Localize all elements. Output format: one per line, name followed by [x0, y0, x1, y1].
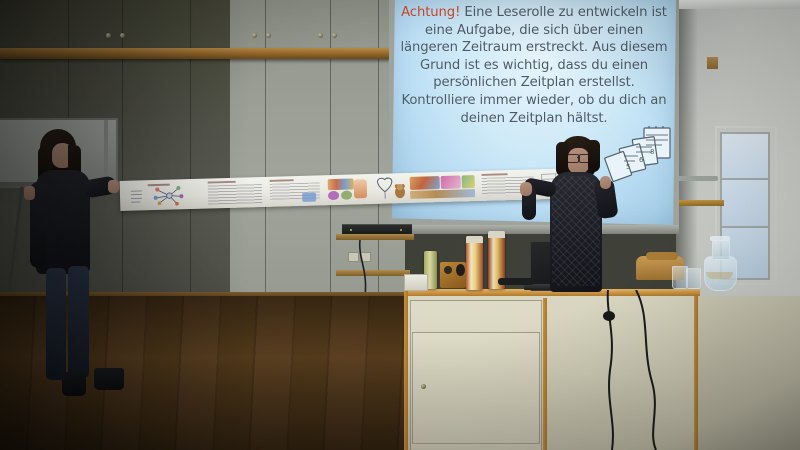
decorative-letter [456, 264, 465, 276]
slide-warning-word: Achtung! [401, 5, 460, 20]
scroll-section-text [268, 178, 323, 203]
canister-lid [466, 236, 483, 243]
paper-sheet[interactable] [404, 274, 428, 291]
scroll-section-text [206, 180, 265, 206]
cabinet-knob[interactable] [318, 33, 323, 38]
desk-edge [543, 298, 547, 450]
svg-text:6: 6 [639, 156, 644, 164]
cabinet-door-seam [330, 0, 331, 300]
glasses-bridge [577, 157, 580, 158]
carafe-water [706, 272, 733, 279]
cabinet-knob[interactable] [266, 33, 271, 38]
right-hand [108, 180, 119, 193]
wall-wood-patch [707, 57, 718, 69]
cabinet-knob[interactable] [120, 33, 125, 38]
canister-lid [488, 231, 505, 238]
scroll-section-diagram [124, 182, 203, 208]
power-led-icon [350, 229, 352, 231]
hair-strand [588, 140, 600, 172]
cabinet-door-seam [122, 0, 123, 300]
desk-side-panel [698, 296, 800, 450]
cabinet-knob[interactable] [252, 33, 257, 38]
svg-text:8: 8 [650, 148, 654, 156]
cabinet-knob[interactable] [106, 33, 111, 38]
left-leg [46, 268, 66, 380]
ceiling-edge [676, 0, 800, 9]
right-leg [68, 266, 89, 378]
snack-canister[interactable] [466, 236, 483, 290]
cable [356, 240, 382, 296]
slide-text: Achtung! Eine Leserolle zu entwickeln is… [396, 4, 672, 127]
glasses-lens [567, 154, 579, 163]
slide-body-text: Eine Leserolle zu entwickeln ist eine Au… [400, 5, 667, 126]
sweater-pattern [552, 176, 600, 286]
desk-cables [590, 290, 700, 450]
remote-control[interactable] [498, 278, 534, 285]
projection-screen-bottom-bar [389, 225, 679, 234]
desk-knob[interactable] [421, 384, 426, 389]
desk-drawer[interactable] [412, 332, 540, 444]
chair-armrest [646, 252, 678, 260]
wall-shelf [676, 200, 724, 206]
cabinet-door-seam [265, 0, 266, 300]
cabinet-wood-trim [0, 48, 390, 59]
scroll-section-stickers [326, 177, 371, 202]
decorative-dot [444, 266, 452, 274]
wall-bracket [676, 176, 718, 181]
shoe [94, 368, 124, 390]
classroom-photo: Achtung! Eine Leserolle zu entwickeln is… [0, 0, 800, 450]
left-hand [520, 182, 532, 196]
cabinet-knob[interactable] [332, 33, 337, 38]
hair-strand [556, 142, 568, 176]
left-hand [24, 186, 35, 200]
cabinet-door-seam [190, 0, 191, 300]
scroll-section-picture [410, 174, 477, 200]
drinking-glass[interactable] [686, 268, 701, 289]
right-hand [600, 176, 611, 189]
scroll-section-illustration [372, 176, 411, 201]
carafe-neck [712, 240, 730, 260]
desk-edge [404, 289, 408, 450]
shoe [62, 372, 86, 396]
carafe-lid [710, 236, 730, 241]
status-led-icon [400, 229, 402, 231]
svg-text:5: 5 [626, 163, 630, 171]
